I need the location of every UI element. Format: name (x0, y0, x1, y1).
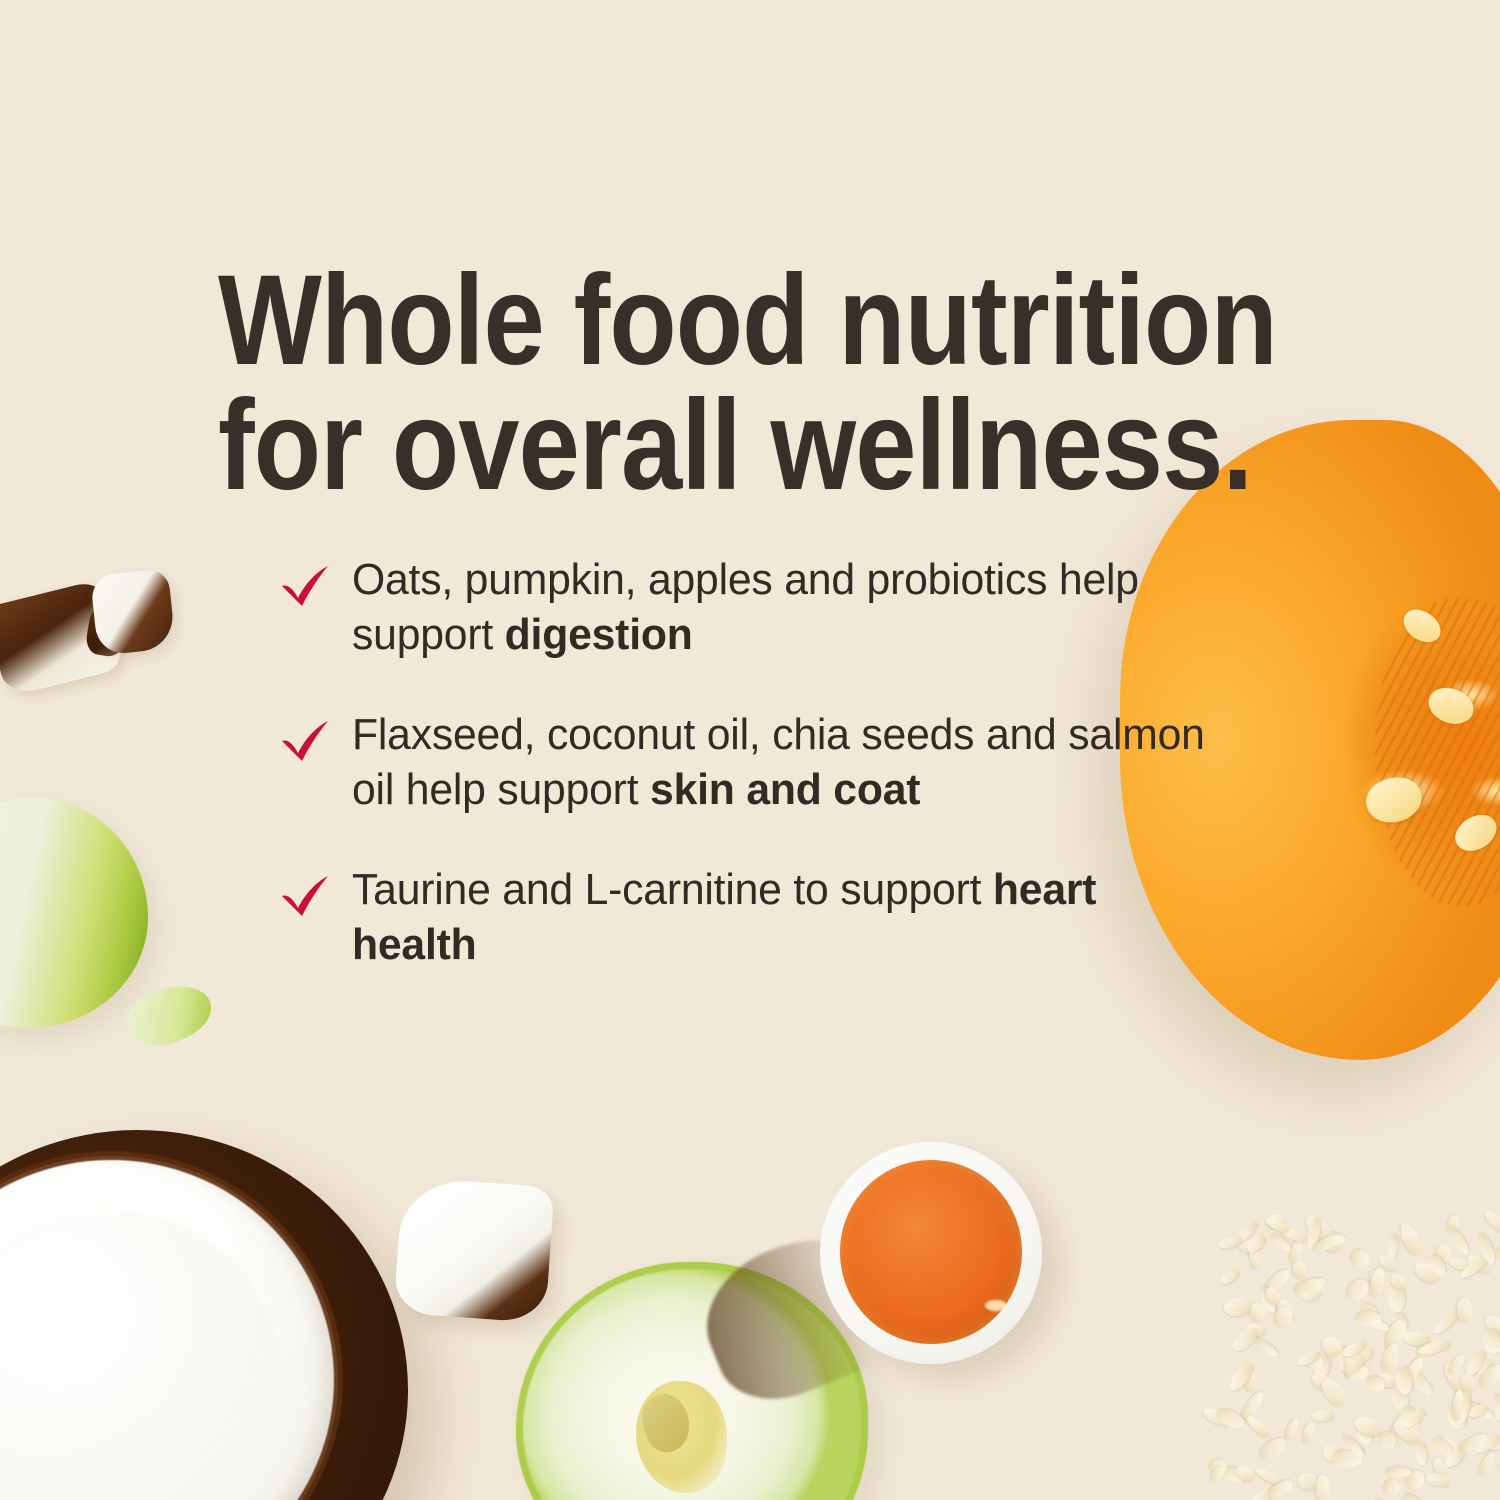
oat-flake (1244, 1413, 1271, 1439)
oat-flake (1356, 1311, 1382, 1326)
oat-flake (1414, 1442, 1429, 1467)
green-apple-sliver-image (121, 974, 219, 1056)
oat-flake (1347, 1246, 1372, 1271)
oat-flake (1291, 1260, 1308, 1280)
list-item: Taurine and L-carnitine to support heart… (278, 862, 1238, 973)
benefit-text-3: Taurine and L-carnitine to support (352, 865, 993, 914)
oat-flake (1218, 1267, 1241, 1286)
oat-flake (1495, 1462, 1500, 1487)
list-item-text: Oats, pumpkin, apples and probiotics hel… (352, 552, 1211, 663)
oat-flake (1482, 1208, 1500, 1236)
benefit-emphasis-1: digestion (505, 610, 693, 659)
oat-flake (1301, 1421, 1317, 1445)
oat-flake (1476, 1451, 1497, 1478)
benefit-emphasis-2: skin and coat (650, 765, 920, 814)
rolled-oats-image (1140, 1140, 1500, 1500)
oat-flake (1404, 1331, 1429, 1346)
check-icon (278, 562, 334, 610)
oat-flake (1343, 1276, 1373, 1305)
green-apple-slice-image (0, 798, 148, 1028)
benefit-text-1: Oats, pumpkin, apples and probiotics hel… (352, 555, 1139, 659)
oat-flake (1379, 1432, 1396, 1449)
list-item: Oats, pumpkin, apples and probiotics hel… (278, 552, 1238, 663)
promo-canvas: Whole food nutrition for overall wellnes… (0, 0, 1500, 1500)
oat-flake (1214, 1406, 1247, 1432)
benefits-list: Oats, pumpkin, apples and probiotics hel… (278, 552, 1238, 973)
list-item: Flaxseed, coconut oil, chia seeds and sa… (278, 707, 1238, 818)
coconut-half-image (0, 1130, 408, 1500)
salmon-oil (840, 1160, 1022, 1344)
oat-flake (1253, 1337, 1280, 1359)
oat-flake (1311, 1410, 1332, 1422)
oat-flake (1317, 1374, 1350, 1410)
oat-flake (1396, 1222, 1425, 1259)
green-apple-half-image (516, 1262, 868, 1500)
oat-flake (1387, 1233, 1398, 1259)
list-item-text: Flaxseed, coconut oil, chia seeds and sa… (352, 707, 1211, 818)
oat-flake (1497, 1240, 1500, 1261)
page-headline: Whole food nutrition for overall wellnes… (218, 258, 1155, 509)
oat-flake (1369, 1496, 1403, 1500)
check-icon (278, 872, 334, 920)
check-icon (278, 717, 334, 765)
list-item-text: Taurine and L-carnitine to support heart… (352, 862, 1211, 973)
headline-line-2: for overall wellness. (218, 383, 1155, 508)
oat-flake (1456, 1298, 1473, 1324)
oat-flake (1380, 1475, 1403, 1498)
coconut-chunk-image (393, 1177, 554, 1323)
oat-flake (1224, 1297, 1252, 1318)
headline-line-1: Whole food nutrition (218, 258, 1155, 383)
oat-flake (1400, 1491, 1430, 1500)
oat-flake (1425, 1472, 1451, 1488)
oat-flake (1283, 1418, 1301, 1442)
coconut-husk-rim (0, 1151, 343, 1500)
coconut-chunk-image (90, 568, 176, 656)
salmon-oil-bowl-image (820, 1142, 1042, 1364)
